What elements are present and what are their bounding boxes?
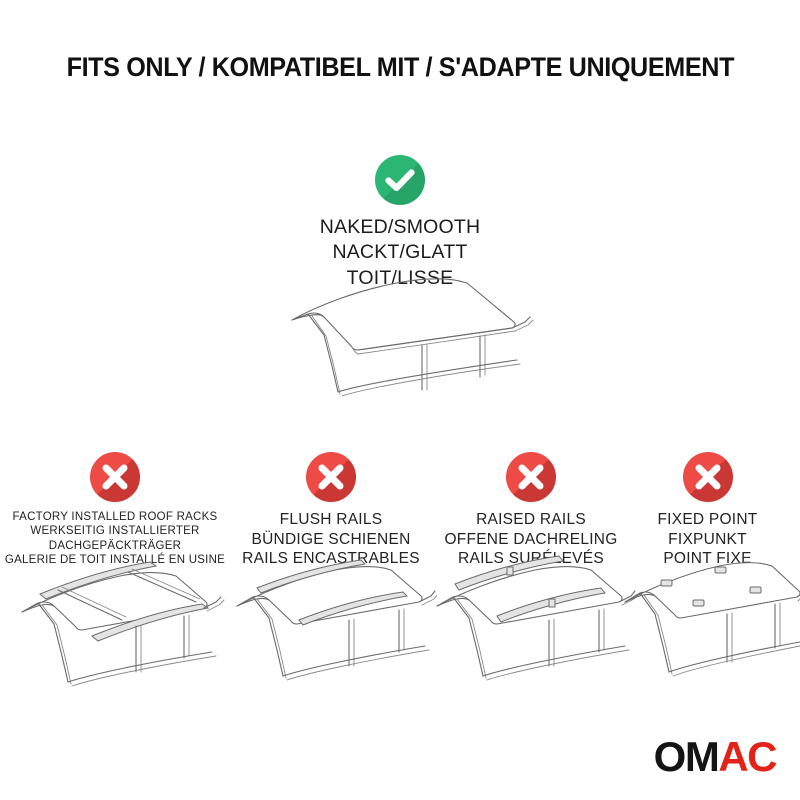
- fitment-infographic: { "title": "FITS ONLY / KOMPATIBEL MIT /…: [0, 0, 800, 800]
- item-label-line-1: RAISED RAILS: [425, 510, 637, 530]
- logo-text-om: OM: [654, 733, 719, 780]
- incompatible-item-factory-installed-roof-racks: FACTORY INSTALLED ROOF RACKS WERKSEITIG …: [0, 452, 230, 568]
- roof-fixed-point-drawing: [615, 544, 800, 724]
- compatible-section: NAKED/SMOOTH NACKT/GLATT TOIT/LISSE: [250, 155, 550, 291]
- car-roof-raised-rails-illustration: [425, 544, 637, 724]
- page-title-text: FITS ONLY / KOMPATIBEL MIT / S'ADAPTE UN…: [66, 52, 734, 83]
- car-roof-naked-smooth-illustration: [262, 272, 562, 417]
- x-circle-icon: [90, 452, 140, 502]
- car-roof-flush-rails-illustration: [225, 544, 437, 724]
- page-title: FITS ONLY / KOMPATIBEL MIT / S'ADAPTE UN…: [0, 52, 800, 83]
- roof-raised-rails-drawing: [425, 544, 637, 724]
- incompatible-item-fixed-point: FIXED POINT FIXPUNKT POINT FIXE: [615, 452, 800, 569]
- item-label-line-1: FLUSH RAILS: [225, 510, 437, 530]
- item-label-line-1: FIXED POINT: [615, 510, 800, 530]
- x-mark-glyph: [90, 452, 140, 502]
- item-label-line-1: FACTORY INSTALLED ROOF RACKS: [0, 510, 230, 524]
- x-circle-icon: [683, 452, 733, 502]
- car-roof-fixed-point-illustration: [615, 544, 800, 724]
- incompatible-item-raised-rails: RAISED RAILS OFFENE DACHRELING RAILS SUR…: [425, 452, 637, 569]
- roof-rack-drawing: [0, 544, 230, 724]
- compatible-label-en: NAKED/SMOOTH: [250, 215, 550, 240]
- item-label-line-2: WERKSEITIG INSTALLIERTER: [0, 524, 230, 538]
- incompatible-item-flush-rails: FLUSH RAILS BÜNDIGE SCHIENEN RAILS ENCAS…: [225, 452, 437, 569]
- x-mark-glyph: [506, 452, 556, 502]
- omac-logo: OMAC: [654, 736, 776, 778]
- x-circle-icon: [306, 452, 356, 502]
- x-circle-icon: [506, 452, 556, 502]
- x-mark-glyph: [306, 452, 356, 502]
- logo-text-ac: AC: [718, 733, 776, 780]
- car-roof-with-factory-rack-illustration: [0, 544, 230, 724]
- x-mark-glyph: [683, 452, 733, 502]
- roof-naked-smooth-drawing: [262, 272, 562, 417]
- check-mark-glyph: [375, 155, 425, 205]
- roof-flush-rails-drawing: [225, 544, 437, 724]
- check-circle-icon: [375, 155, 425, 205]
- compatible-label-de: NACKT/GLATT: [250, 240, 550, 265]
